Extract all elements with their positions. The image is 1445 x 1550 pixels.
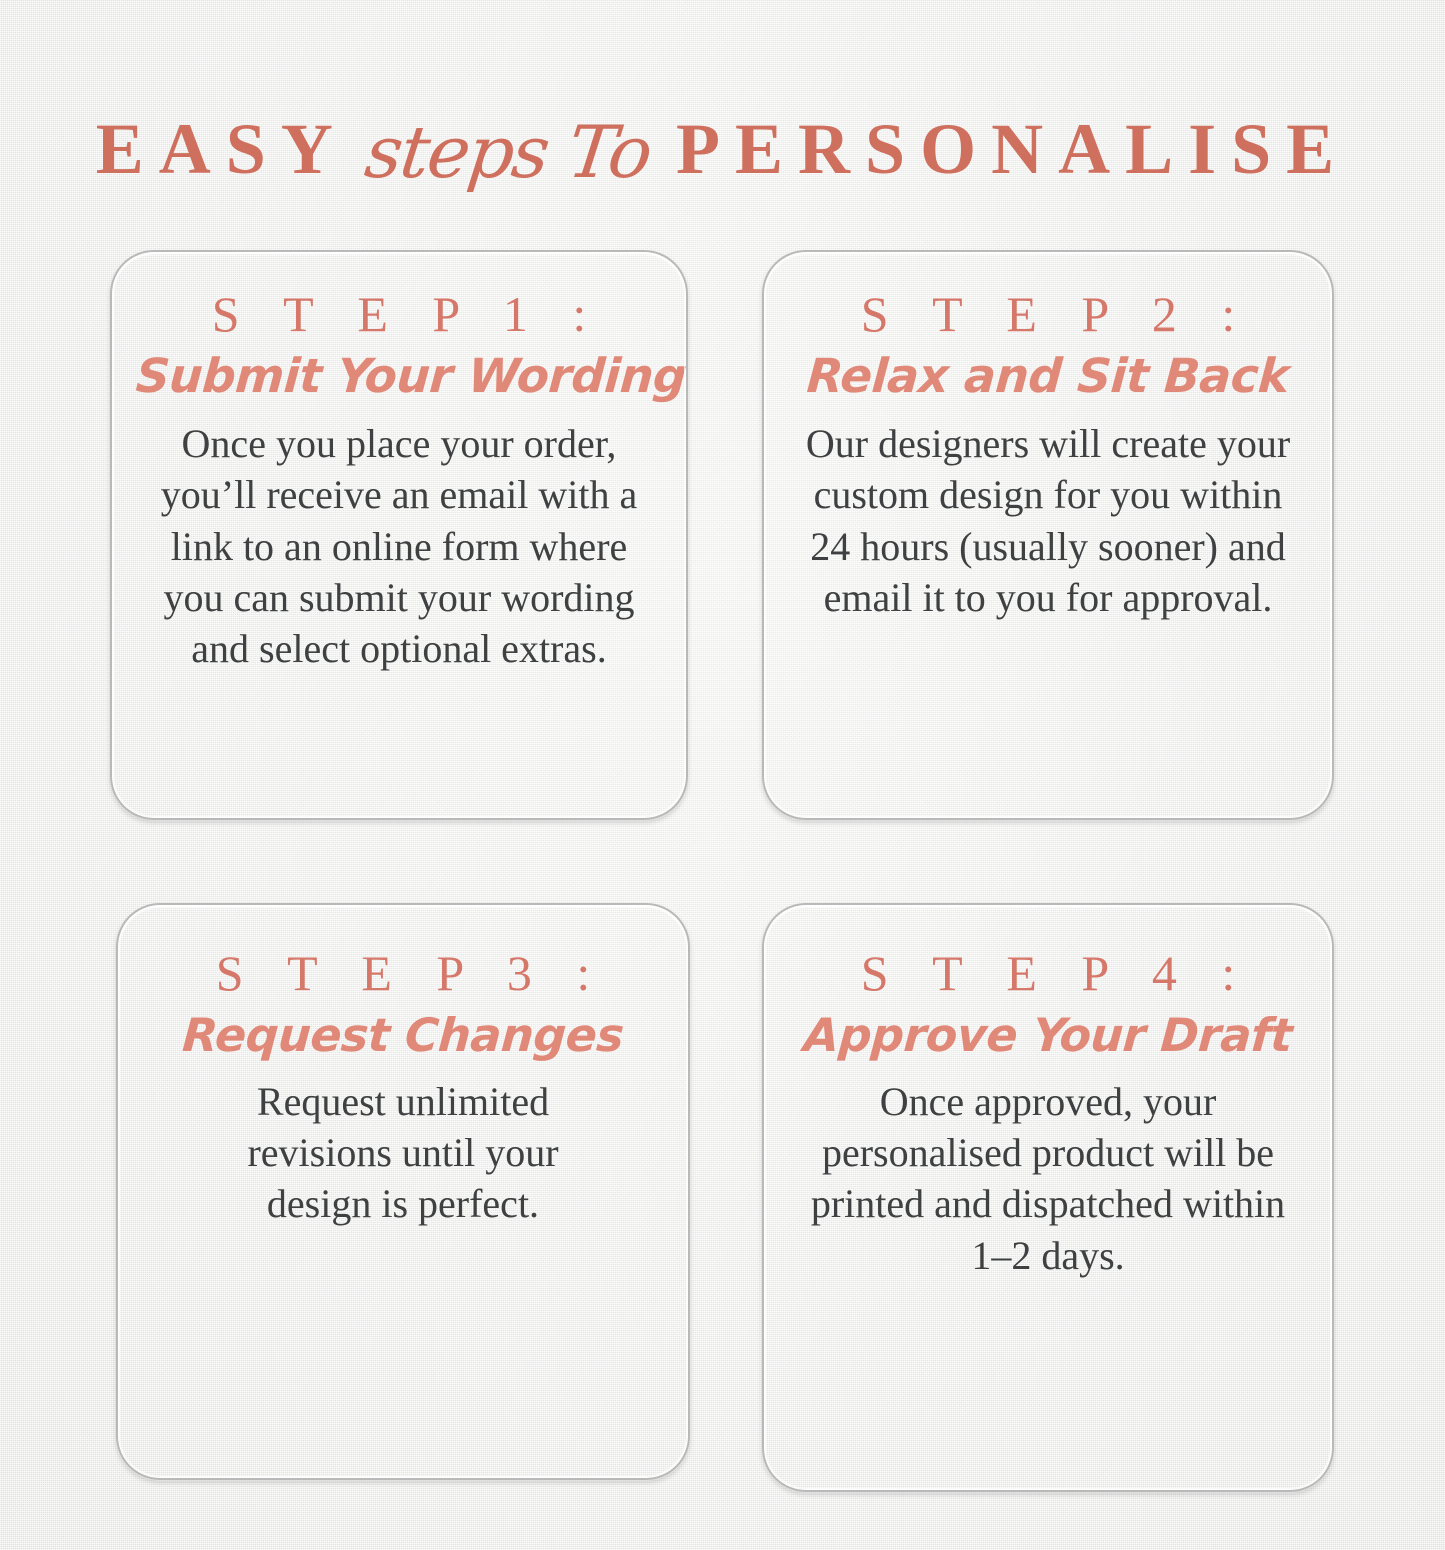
step-card-4: S T E P 4 : Approve Your Draft Once appr… bbox=[762, 903, 1334, 1492]
page-title-word-easy: EASY bbox=[96, 113, 348, 185]
step-card-4-title: Approve Your Draft bbox=[786, 1010, 1310, 1061]
page-title: EASY steps To PERSONALISE bbox=[0, 112, 1445, 208]
step-card-2-body: Our designers will create your custom de… bbox=[792, 418, 1304, 623]
page-title-script-steps-to: steps To bbox=[361, 116, 654, 188]
step-card-1-body: Once you place your order, you’ll receiv… bbox=[136, 418, 662, 674]
step-card-4-label: S T E P 4 : bbox=[788, 947, 1308, 1000]
step-card-2-title: Relax and Sit Back bbox=[786, 351, 1310, 403]
step-card-1-content: S T E P 1 : Submit Your Wording Once you… bbox=[112, 252, 686, 674]
step-card-2-content: S T E P 2 : Relax and Sit Back Our desig… bbox=[764, 252, 1332, 623]
step-card-1-label: S T E P 1 : bbox=[136, 288, 662, 341]
step-card-3-title: Request Changes bbox=[140, 1010, 666, 1061]
step-card-3-body: Request unlimited revisions until your d… bbox=[197, 1076, 609, 1230]
step-card-3: S T E P 3 : Request Changes Request unli… bbox=[116, 903, 690, 1480]
step-card-4-content: S T E P 4 : Approve Your Draft Once appr… bbox=[764, 905, 1332, 1281]
step-card-3-content: S T E P 3 : Request Changes Request unli… bbox=[118, 905, 688, 1230]
step-card-2: S T E P 2 : Relax and Sit Back Our desig… bbox=[762, 250, 1334, 820]
step-card-1: S T E P 1 : Submit Your Wording Once you… bbox=[110, 250, 688, 820]
step-card-3-label: S T E P 3 : bbox=[142, 947, 664, 1000]
step-card-2-label: S T E P 2 : bbox=[788, 288, 1308, 341]
personalisation-steps-infographic: EASY steps To PERSONALISE S T E P 1 : Su… bbox=[0, 0, 1445, 1550]
step-card-4-body: Once approved, your personalised product… bbox=[788, 1076, 1308, 1281]
page-title-word-personalise: PERSONALISE bbox=[676, 113, 1349, 185]
step-card-1-title: Submit Your Wording bbox=[134, 351, 664, 403]
